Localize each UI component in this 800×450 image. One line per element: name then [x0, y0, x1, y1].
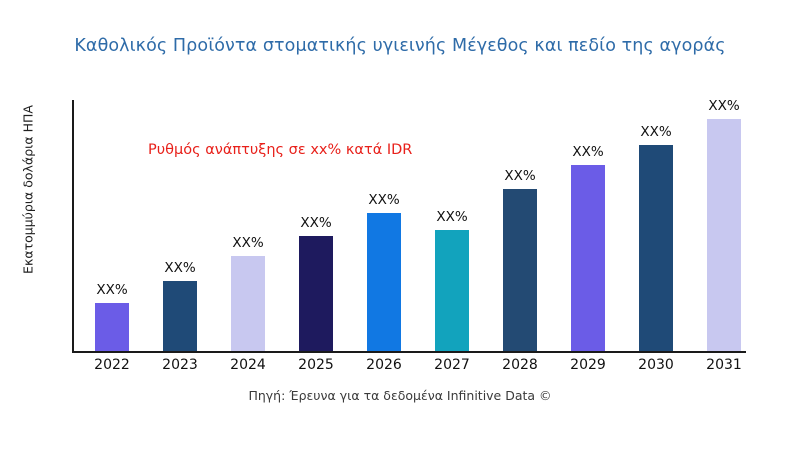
- bar-group: XX%: [707, 100, 741, 351]
- bar-value-label: XX%: [640, 124, 671, 140]
- bar-group: XX%: [503, 100, 537, 351]
- plot-area: XX%XX%XX%XX%XX%XX%XX%XX%XX%XX%: [72, 100, 752, 353]
- x-tick-2025: 2025: [282, 357, 350, 373]
- bar-value-label: XX%: [300, 215, 331, 231]
- chart-title: Καθολικός Προϊόντα στοματικής υγιεινής Μ…: [0, 36, 800, 56]
- x-tick-2026: 2026: [350, 357, 418, 373]
- bar-group: XX%: [231, 100, 265, 351]
- bar-value-label: XX%: [232, 235, 263, 251]
- bar-2029[interactable]: [571, 165, 605, 352]
- x-tick-2023: 2023: [146, 357, 214, 373]
- x-tick-2024: 2024: [214, 357, 282, 373]
- bar-2025[interactable]: [299, 236, 333, 351]
- bar-2030[interactable]: [639, 145, 673, 351]
- bar-value-label: XX%: [436, 209, 467, 225]
- bar-group: XX%: [571, 100, 605, 351]
- bar-chart: Καθολικός Προϊόντα στοματικής υγιεινής Μ…: [0, 0, 800, 450]
- source-caption: Πηγή: Έρευνα για τα δεδομένα Infinitive …: [0, 388, 800, 403]
- bar-group: XX%: [163, 100, 197, 351]
- bar-2022[interactable]: [95, 303, 129, 352]
- x-tick-2027: 2027: [418, 357, 486, 373]
- bar-2023[interactable]: [163, 281, 197, 351]
- bar-value-label: XX%: [164, 260, 195, 276]
- bar-group: XX%: [367, 100, 401, 351]
- x-tick-2028: 2028: [486, 357, 554, 373]
- x-axis-line: [72, 351, 746, 353]
- x-axis-tick-labels: 2022202320242025202620272028202920302031: [72, 357, 752, 381]
- bar-group: XX%: [299, 100, 333, 351]
- bar-group: XX%: [639, 100, 673, 351]
- bar-group: XX%: [435, 100, 469, 351]
- x-tick-2030: 2030: [622, 357, 690, 373]
- bar-2028[interactable]: [503, 189, 537, 352]
- bar-value-label: XX%: [504, 168, 535, 184]
- bar-2024[interactable]: [231, 256, 265, 351]
- bar-value-label: XX%: [572, 144, 603, 160]
- x-tick-2031: 2031: [690, 357, 758, 373]
- x-tick-2029: 2029: [554, 357, 622, 373]
- y-axis-label: Εκατομμύρια δολάρια ΗΠΑ: [21, 70, 36, 310]
- bar-2031[interactable]: [707, 119, 741, 351]
- bar-2027[interactable]: [435, 230, 469, 351]
- bar-value-label: XX%: [708, 98, 739, 114]
- bar-series: XX%XX%XX%XX%XX%XX%XX%XX%XX%XX%: [72, 100, 752, 351]
- bar-group: XX%: [95, 100, 129, 351]
- bar-2026[interactable]: [367, 213, 401, 352]
- bar-value-label: XX%: [96, 282, 127, 298]
- bar-value-label: XX%: [368, 192, 399, 208]
- x-tick-2022: 2022: [78, 357, 146, 373]
